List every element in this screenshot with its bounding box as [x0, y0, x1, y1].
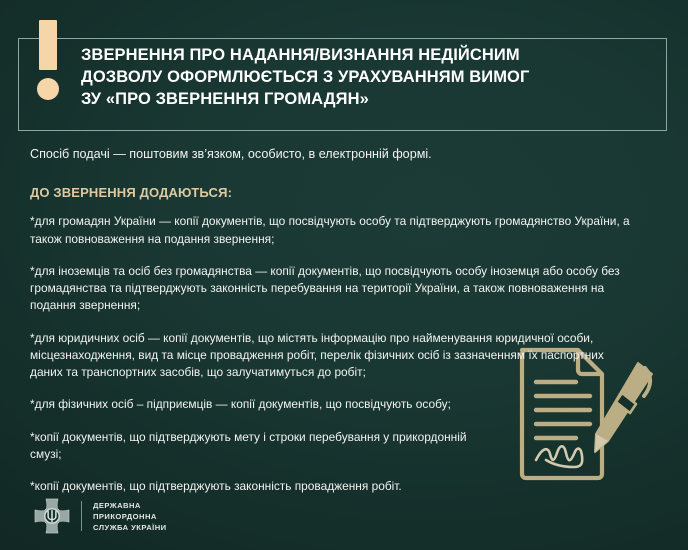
list-item: *для громадян України — копії документів…: [30, 213, 630, 248]
exclamation-bar: [39, 20, 57, 70]
infographic-poster: ЗВЕРНЕННЯ ПРО НАДАННЯ/ВИЗНАННЯ НЕДІЙСНИМ…: [0, 0, 688, 550]
list-item: *копії документів, що підтверджують мету…: [30, 429, 485, 464]
organization-name: ДЕРЖАВНА ПРИКОРДОННА СЛУЖБА УКРАЇНИ: [93, 500, 167, 533]
list-item: *для іноземців та осіб без громадянства …: [30, 263, 630, 315]
attachments-subheading: ДО ЗВЕРНЕННЯ ДОДАЮТЬСЯ:: [30, 185, 635, 200]
list-item: *для юридичних осіб — копії документів, …: [30, 330, 630, 382]
logo-divider: [81, 501, 82, 531]
exclamation-dot: [37, 78, 59, 100]
organization-name-line-2: ПРИКОРДОННА: [93, 511, 167, 522]
list-item: *копії документів, що підтверджують зако…: [30, 478, 630, 495]
page-title: ЗВЕРНЕННЯ ПРО НАДАННЯ/ВИЗНАННЯ НЕДІЙСНИМ…: [81, 45, 656, 111]
list-item: *для фізичних осіб – підприємців — копії…: [30, 396, 485, 413]
submission-method-text: Спосіб подачі — поштовим зв’язком, особи…: [30, 145, 635, 163]
body-content: Спосіб подачі — поштовим зв’язком, особи…: [30, 145, 635, 495]
organization-logo: ДЕРЖАВНА ПРИКОРДОННА СЛУЖБА УКРАЇНИ: [32, 494, 167, 538]
border-guard-cross-emblem-icon: [32, 496, 72, 536]
page-title-line-3: ЗУ «ПРО ЗВЕРНЕННЯ ГРОМАДЯН»: [81, 89, 656, 111]
page-title-line-1: ЗВЕРНЕННЯ ПРО НАДАННЯ/ВИЗНАННЯ НЕДІЙСНИМ: [81, 45, 656, 67]
page-title-line-2: ДОЗВОЛУ ОФОРМЛЮЄТЬСЯ З УРАХУВАННЯМ ВИМОГ: [81, 67, 656, 89]
organization-name-line-3: СЛУЖБА УКРАЇНИ: [93, 522, 167, 533]
organization-name-line-1: ДЕРЖАВНА: [93, 500, 167, 511]
exclamation-mark-icon: [39, 20, 57, 100]
